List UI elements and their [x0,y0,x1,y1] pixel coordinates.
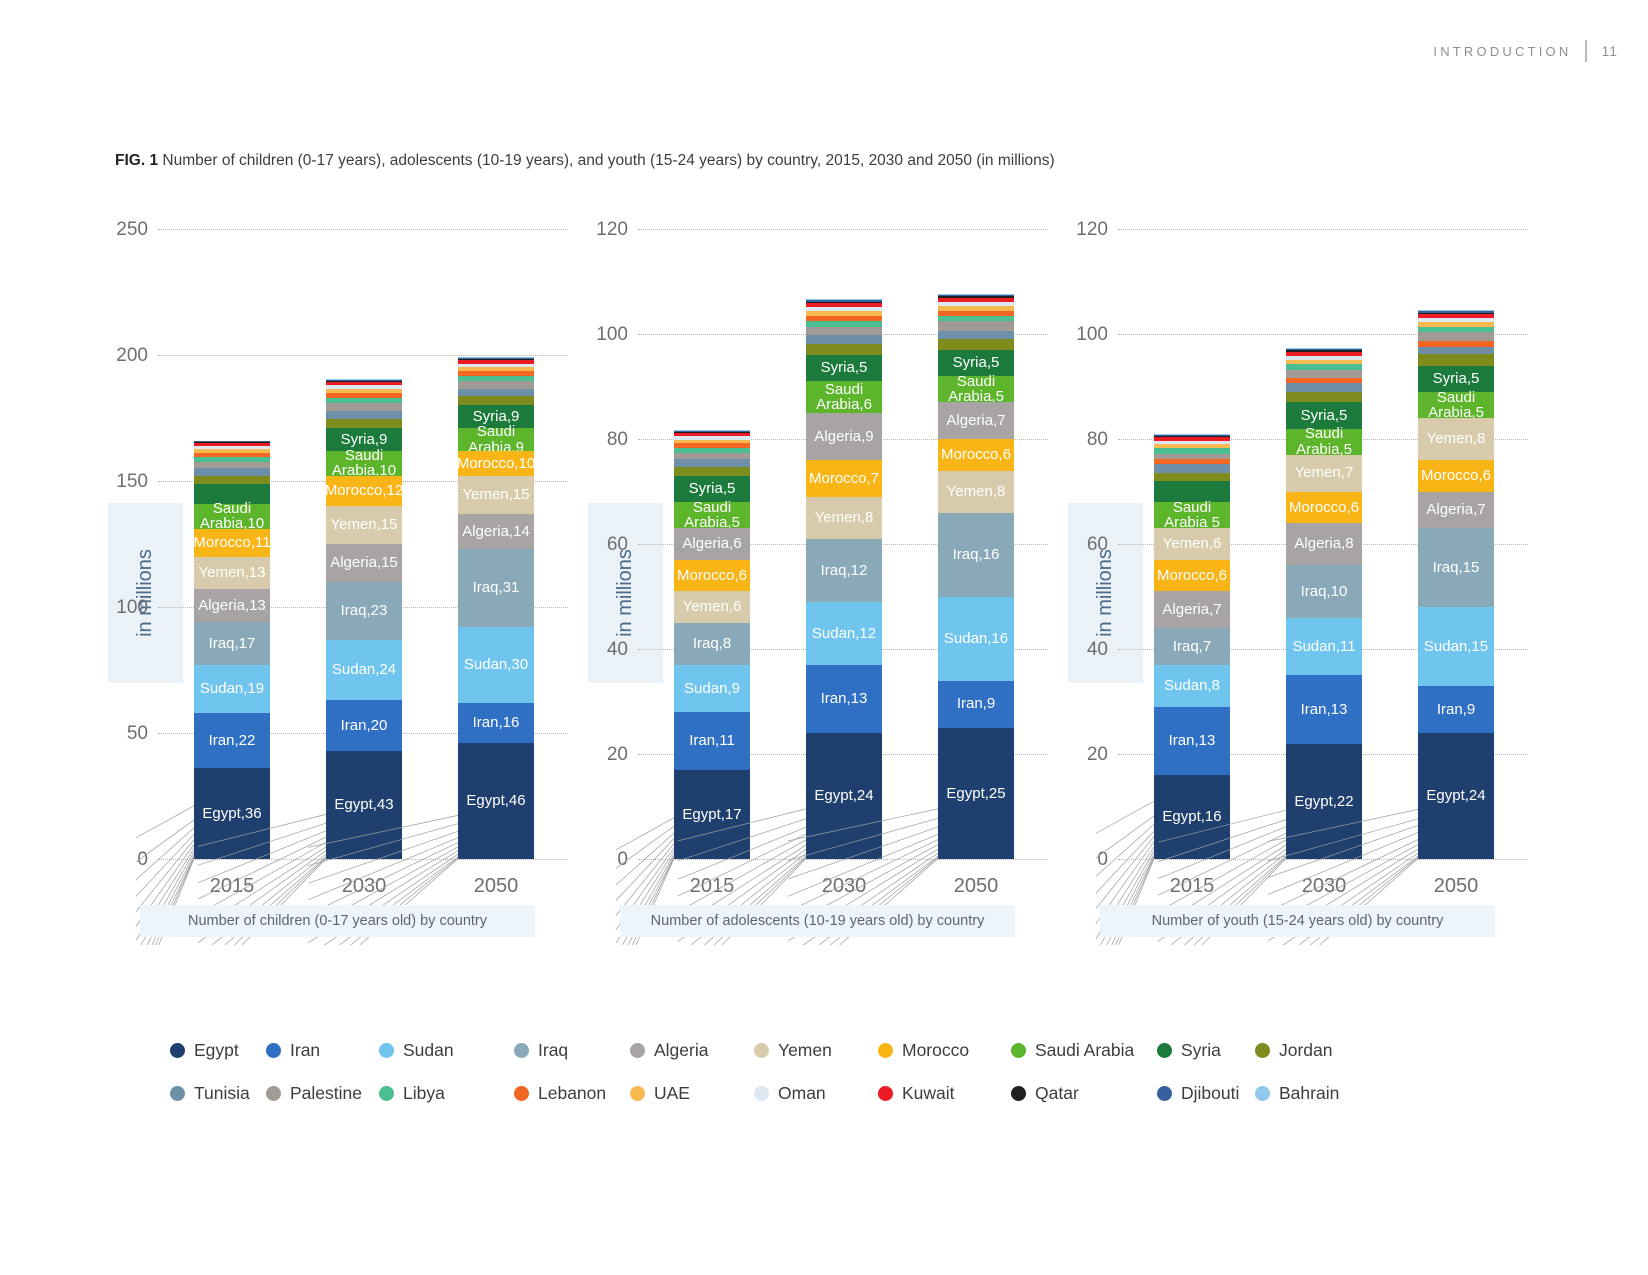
legend-item-algeria[interactable]: Algeria [630,1040,754,1061]
header-divider [1585,40,1587,62]
bar-segment-sudan[interactable]: Sudan,8 [1154,665,1230,707]
segment-label: Yemen,8 [1427,431,1486,446]
segment-label: Iran,13 [821,691,868,706]
bar-segment-morocco[interactable]: Morocco,11 [194,529,270,557]
legend-item-iraq[interactable]: Iraq [514,1040,630,1061]
bar-segment-egypt[interactable]: Egypt,24 [806,733,882,859]
x-axis-tick: 2050 [916,875,1036,898]
y-axis-tick: 0 [1097,849,1108,871]
legend-item-yemen[interactable]: Yemen [754,1040,878,1061]
bar-segment-saudi-arabia[interactable]: Saudi Arabia,5 [1418,392,1494,418]
segment-label: Sudan,12 [812,626,876,641]
bar-segment-syria[interactable] [1154,481,1230,502]
legend-label: Algeria [654,1040,708,1061]
x-axis-tick: 2015 [172,875,292,898]
legend-label: Kuwait [902,1083,955,1104]
bar-segment-algeria[interactable]: Algeria,9 [806,413,882,460]
bar-segment-iran[interactable]: Iran,16 [458,703,534,743]
y-axis-tick: 120 [596,219,628,241]
bar-segment-algeria[interactable]: Algeria,7 [1154,591,1230,628]
segment-label: Syria,5 [821,360,868,375]
segment-label: Sudan,16 [944,631,1008,646]
bar-segment-iraq[interactable]: Iraq,7 [1154,628,1230,665]
segment-label: Egypt,36 [202,806,261,821]
bar-segment-tunisia[interactable] [938,331,1014,339]
segment-label: Algeria,7 [946,413,1005,428]
segment-label: Morocco,6 [1289,500,1359,515]
segment-label: Yemen,7 [1295,465,1354,480]
legend-swatch [379,1043,394,1058]
bar-segment-iraq[interactable]: Iraq,10 [1286,565,1362,618]
legend-label: Oman [778,1083,826,1104]
bar-segment-iran[interactable]: Iran,22 [194,713,270,768]
bar-segment-jordan[interactable] [1286,392,1362,403]
bar-segment-syria[interactable]: Syria,9 [458,405,534,428]
bar-segment-egypt[interactable]: Egypt,16 [1154,775,1230,859]
figure-title: FIG. 1 Number of children (0-17 years), … [115,152,1055,170]
segment-label: Algeria,8 [1294,536,1353,551]
segment-label: Egypt,22 [1294,794,1353,809]
segment-label: Syria,9 [341,432,388,447]
legend-label: Palestine [290,1083,362,1104]
bar-segment-morocco[interactable]: Morocco,6 [938,439,1014,471]
y-axis-tick: 60 [607,534,628,556]
legend-label: Lebanon [538,1083,606,1104]
segment-label: Algeria,7 [1426,502,1485,517]
y-axis-tick: 120 [1076,219,1108,241]
bar-segment-tunisia[interactable] [326,411,402,419]
bar-segment-algeria[interactable]: Algeria,6 [674,528,750,560]
y-axis-tick: 80 [607,429,628,451]
legend-item-sudan[interactable]: Sudan [379,1040,514,1061]
plot-area: 020406080100120Syria,5Saudi Arabia,5Alge… [638,229,1048,859]
plot-area: 020406080100120Saudi Arabia 5Yemen,6Moro… [1118,229,1528,859]
stacked-bar-2015[interactable]: Syria,5Saudi Arabia,5Algeria,6Morocco,6Y… [674,430,750,859]
bar-segment-tunisia[interactable] [1286,383,1362,391]
legend-item-kuwait[interactable]: Kuwait [878,1083,1011,1104]
y-axis-tick: 200 [116,345,148,367]
bar-segment-syria[interactable]: Syria,9 [326,428,402,451]
bar-segment-sudan[interactable]: Sudan,12 [806,602,882,665]
bar-segment-jordan[interactable] [938,339,1014,350]
legend-label: Morocco [902,1040,969,1061]
segment-label: Egypt,46 [466,793,525,808]
bar-segment-yemen[interactable]: Yemen,6 [1154,528,1230,560]
bar-segment-tunisia[interactable] [674,459,750,467]
bar-segment-saudi-arabia[interactable]: Saudi Arabia,10 [326,451,402,476]
y-axis-tick: 60 [1087,534,1108,556]
legend-label: UAE [654,1083,690,1104]
segment-label: Syria,5 [953,355,1000,370]
bar-segment-palestine[interactable] [938,321,1014,330]
legend-item-libya[interactable]: Libya [379,1083,514,1104]
bar-segment-algeria[interactable]: Algeria,7 [938,402,1014,439]
legend-swatch [878,1043,893,1058]
segment-label: Morocco,12 [325,483,403,498]
segment-label: Iran,16 [473,715,520,730]
bar-segment-tunisia[interactable] [194,468,270,476]
segment-label: Iraq,7 [1173,639,1211,654]
panel-caption: Number of children (0-17 years old) by c… [140,905,535,937]
segment-label: Iran,13 [1169,733,1216,748]
stacked-bar-2050[interactable]: Syria,9Saudi Arabia,9Morocco,10Yemen,15A… [458,357,534,859]
legend-item-bahrain[interactable]: Bahrain [1255,1083,1365,1104]
y-axis-tick: 0 [137,849,148,871]
bar-segment-sudan[interactable]: Sudan,9 [674,665,750,712]
segment-label: Syria,5 [1301,408,1348,423]
legend-item-lebanon[interactable]: Lebanon [514,1083,630,1104]
y-axis-tick: 0 [617,849,628,871]
legend-label: Iraq [538,1040,568,1061]
bar-segment-syria[interactable]: Syria,5 [938,350,1014,376]
bar-segment-egypt[interactable]: Egypt,46 [458,743,534,859]
legend-item-oman[interactable]: Oman [754,1083,878,1104]
stacked-bar-2015[interactable]: Saudi Arabia 5Yemen,6Morocco,6Algeria,7I… [1154,434,1230,859]
legend-swatch [170,1086,185,1101]
stacked-bar-2015[interactable]: Saudi Arabia,10Morocco,11Yemen,13Algeria… [194,441,270,859]
segment-label: Morocco,6 [1157,568,1227,583]
legend-swatch [754,1043,769,1058]
bar-segment-morocco[interactable]: Morocco,6 [1418,460,1494,492]
panel-youth: in millions020406080100120Saudi Arabia 5… [1060,215,1530,945]
bar-segment-iran[interactable]: Iran,20 [326,700,402,750]
x-axis-tick: 2030 [784,875,904,898]
bar-segment-saudi-arabia[interactable]: Saudi Arabia,5 [938,376,1014,402]
stacked-bar-2050[interactable]: Syria,5Saudi Arabia,5Algeria,7Morocco,6Y… [938,294,1014,859]
x-axis-tick: 2030 [1264,875,1384,898]
segment-label: Algeria,15 [330,555,398,570]
segment-label: Algeria,7 [1162,602,1221,617]
segment-label: Yemen,13 [198,565,265,580]
segment-label: Sudan,24 [332,662,396,677]
bar-segment-saudi-arabia[interactable]: Saudi Arabia,5 [674,502,750,528]
bar-segment-jordan[interactable] [458,396,534,406]
segment-label: Iran,11 [689,733,735,748]
bar-segment-jordan[interactable] [806,344,882,355]
legend-row: TunisiaPalestineLibyaLebanonUAEOmanKuwai… [170,1083,1470,1104]
bar-segment-tunisia[interactable] [806,335,882,344]
segment-label: Sudan,15 [1424,639,1488,654]
segment-label: Iran,13 [1301,702,1348,717]
legend-item-uae[interactable]: UAE [630,1083,754,1104]
segment-label: Algeria,6 [682,536,741,551]
segment-label: Iraq,12 [821,563,868,578]
legend-label: Sudan [403,1040,454,1061]
segment-label: Egypt,25 [946,786,1005,801]
legend-swatch [1011,1043,1026,1058]
segment-label: Egypt,24 [1426,788,1485,803]
segment-label: Algeria,9 [814,429,873,444]
legend-label: Djibouti [1181,1083,1239,1104]
legend-label: Egypt [194,1040,239,1061]
segment-label: Sudan,8 [1164,678,1220,693]
bar-segment-syria[interactable]: Syria,5 [806,355,882,381]
segment-label: Morocco,7 [809,471,879,486]
x-axis-tick: 2050 [436,875,556,898]
bar-segment-algeria[interactable]: Algeria,8 [1286,523,1362,565]
bar-segment-yemen[interactable]: Yemen,8 [1418,418,1494,460]
segment-label: Yemen,15 [462,487,529,502]
legend-label: Iran [290,1040,320,1061]
bar-segment-syria[interactable] [194,484,270,504]
bar-segment-egypt[interactable]: Egypt,25 [938,728,1014,859]
segment-label: Algeria,13 [198,598,266,613]
segment-label: Saudi Arabia,10 [332,448,396,479]
bar-segment-iran[interactable]: Iran,11 [674,712,750,770]
y-axis-tick: 40 [1087,639,1108,661]
y-axis-tick: 50 [127,723,148,745]
bar-segment-sudan[interactable]: Sudan,30 [458,627,534,703]
y-axis-tick: 20 [607,744,628,766]
legend-label: Saudi Arabia [1035,1040,1134,1061]
segment-label: Morocco,6 [677,568,747,583]
bar-segment-yemen[interactable]: Yemen,6 [674,591,750,623]
bar-segment-palestine[interactable] [1286,370,1362,377]
bar-segment-sudan[interactable]: Sudan,24 [326,640,402,700]
legend-label: Libya [403,1083,445,1104]
panel-caption: Number of youth (15-24 years old) by cou… [1100,905,1495,937]
segment-label: Yemen,6 [1163,536,1222,551]
legend-item-palestine[interactable]: Palestine [266,1083,379,1104]
bar-segment-palestine[interactable] [806,327,882,335]
legend-swatch [1157,1043,1172,1058]
segment-label: Syria,9 [473,409,520,424]
legend-swatch [754,1086,769,1101]
bar-segment-morocco[interactable]: Morocco,6 [1286,492,1362,524]
bar-segment-sudan[interactable]: Sudan,19 [194,665,270,713]
bar-segment-egypt[interactable]: Egypt,17 [674,770,750,859]
bar-segment-sudan[interactable]: Sudan,15 [1418,607,1494,686]
legend-item-iran[interactable]: Iran [266,1040,379,1061]
segment-label: Saudi Arabia 5 [1164,500,1220,531]
bar-segment-tunisia[interactable] [1154,464,1230,472]
segment-label: Iran,20 [341,718,388,733]
bar-segment-iraq[interactable]: Iraq,16 [938,513,1014,597]
segment-label: Saudi Arabia,5 [948,374,1004,405]
segment-label: Saudi Arabia,5 [684,500,740,531]
bar-segment-algeria[interactable]: Algeria,13 [194,589,270,622]
bar-segment-iran[interactable]: Iran,9 [1418,686,1494,733]
bar-segment-algeria[interactable]: Algeria,15 [326,544,402,582]
segment-label: Syria,5 [1433,371,1480,386]
legend-swatch [514,1086,529,1101]
segment-label: Egypt,16 [1162,809,1221,824]
segment-label: Algeria,14 [462,524,530,539]
bar-segment-iran[interactable]: Iran,13 [1154,707,1230,775]
y-axis-tick: 20 [1087,744,1108,766]
page-number: 11 [1601,43,1618,59]
bar-segment-algeria[interactable]: Algeria,14 [458,514,534,549]
y-axis-tick: 40 [607,639,628,661]
legend-swatch [1157,1086,1172,1101]
stacked-bar-2030[interactable]: Syria,5Saudi Arabia,6Algeria,9Morocco,7Y… [806,299,882,859]
legend-swatch [379,1086,394,1101]
legend-swatch [170,1043,185,1058]
bar-segment-jordan[interactable] [326,419,402,429]
legend-swatch [630,1043,645,1058]
segment-label: Sudan,30 [464,657,528,672]
bar-segment-syria[interactable]: Syria,5 [1418,366,1494,392]
y-axis-tick: 150 [116,471,148,493]
bar-segment-iraq[interactable]: Iraq,17 [194,622,270,665]
segment-label: Iran,9 [1437,702,1475,717]
legend-item-saudi-arabia[interactable]: Saudi Arabia [1011,1040,1157,1061]
section-label: INTRODUCTION [1433,44,1571,59]
panel-children: in millions050100150200250Saudi Arabia,1… [100,215,570,945]
segment-label: Iraq,10 [1301,584,1348,599]
plot-area: 050100150200250Saudi Arabia,10Morocco,11… [158,229,568,859]
legend-label: Qatar [1035,1083,1079,1104]
segment-label: Morocco,6 [1421,468,1491,483]
bar-segment-saudi-arabia[interactable]: Saudi Arabia 5 [1154,502,1230,528]
chart-legend: EgyptIranSudanIraqAlgeriaYemenMoroccoSau… [170,1040,1470,1126]
bar-segment-jordan[interactable] [1418,354,1494,365]
segment-label: Sudan,19 [200,681,264,696]
bar-segment-morocco[interactable]: Morocco,10 [458,451,534,476]
x-axis-tick: 2015 [1132,875,1252,898]
bar-group: Saudi Arabia 5Yemen,6Morocco,6Algeria,7I… [1118,229,1528,859]
segment-label: Egypt,24 [814,788,873,803]
bar-segment-iraq[interactable]: Iraq,8 [674,623,750,665]
segment-label: Iran,22 [209,733,256,748]
segment-label: Iraq,15 [1433,560,1480,575]
legend-swatch [266,1043,281,1058]
segment-label: Iraq,31 [473,580,520,595]
segment-label: Saudi Arabia,6 [816,382,872,413]
y-axis-tick: 250 [116,219,148,241]
bar-segment-tunisia[interactable] [458,389,534,396]
legend-swatch [514,1043,529,1058]
segment-label: Iran,9 [957,696,995,711]
segment-label: Morocco,6 [941,447,1011,462]
figure-title-text: Number of children (0-17 years), adolesc… [162,152,1054,169]
legend-label: Bahrain [1279,1083,1339,1104]
segment-label: Sudan,9 [684,681,740,696]
bar-segment-jordan[interactable] [674,467,750,476]
segment-label: Saudi Arabia,5 [1428,390,1484,421]
legend-swatch [1255,1086,1270,1101]
bar-segment-iraq[interactable]: Iraq,15 [1418,528,1494,607]
legend-item-morocco[interactable]: Morocco [878,1040,1011,1061]
bar-segment-syria[interactable]: Syria,5 [674,476,750,502]
legend-item-tunisia[interactable]: Tunisia [170,1083,266,1104]
bar-segment-jordan[interactable] [1154,473,1230,481]
bar-segment-saudi-arabia[interactable]: Saudi Arabia,10 [194,504,270,529]
x-axis-line [1118,859,1528,860]
bar-segment-iraq[interactable]: Iraq,12 [806,539,882,602]
stacked-bar-2030[interactable]: Syria,5Saudi Arabia,5Yemen,7Morocco,6Alg… [1286,348,1362,859]
segment-label: Sudan,11 [1292,639,1355,654]
bar-segment-algeria[interactable]: Algeria,7 [1418,492,1494,529]
legend-swatch [1011,1086,1026,1101]
y-axis-tick: 100 [596,324,628,346]
bar-segment-jordan[interactable] [194,476,270,484]
bar-segment-yemen[interactable]: Yemen,8 [938,471,1014,513]
segment-label: Morocco,10 [457,456,535,471]
bar-segment-yemen[interactable]: Yemen,13 [194,557,270,590]
x-axis-line [638,859,1048,860]
legend-item-jordan[interactable]: Jordan [1255,1040,1365,1061]
bar-segment-palestine[interactable] [458,381,534,389]
figure-number: FIG. 1 [115,152,158,169]
bar-segment-yemen[interactable]: Yemen,7 [1286,455,1362,492]
x-axis-tick: 2015 [652,875,772,898]
bar-segment-morocco[interactable]: Morocco,7 [806,460,882,497]
y-axis-tick: 100 [1076,324,1108,346]
legend-label: Tunisia [194,1083,250,1104]
legend-item-djibouti[interactable]: Djibouti [1157,1083,1255,1104]
legend-item-syria[interactable]: Syria [1157,1040,1255,1061]
bar-segment-egypt[interactable]: Egypt,22 [1286,744,1362,860]
bar-segment-iran[interactable]: Iran,13 [1286,675,1362,743]
segment-label: Iraq,17 [209,636,256,651]
bar-segment-egypt[interactable]: Egypt,24 [1418,733,1494,859]
segment-label: Yemen,8 [815,510,874,525]
bar-segment-yemen[interactable]: Yemen,8 [806,497,882,539]
bar-segment-egypt[interactable]: Egypt,43 [326,751,402,859]
page-header: INTRODUCTION 11 [1433,40,1618,62]
bar-segment-iran[interactable]: Iran,9 [938,681,1014,728]
bar-segment-yemen[interactable]: Yemen,15 [458,476,534,514]
bar-segment-saudi-arabia[interactable]: Saudi Arabia,6 [806,381,882,413]
bar-segment-palestine[interactable] [326,403,402,410]
bar-segment-morocco[interactable]: Morocco,12 [326,476,402,506]
segment-label: Iraq,8 [693,636,731,651]
bar-segment-iraq[interactable]: Iraq,31 [458,549,534,627]
legend-swatch [878,1086,893,1101]
legend-label: Yemen [778,1040,832,1061]
panel-adolescents: in millions020406080100120Syria,5Saudi A… [580,215,1050,945]
bar-group: Syria,5Saudi Arabia,5Algeria,6Morocco,6Y… [638,229,1048,859]
bar-segment-morocco[interactable]: Morocco,6 [1154,560,1230,592]
segment-label: Egypt,17 [682,807,741,822]
segment-label: Yemen,15 [330,517,397,532]
segment-label: Yemen,8 [947,484,1006,499]
segment-label: Syria,5 [689,481,736,496]
bar-segment-egypt[interactable]: Egypt,36 [194,768,270,859]
x-axis-tick: 2030 [304,875,424,898]
legend-item-egypt[interactable]: Egypt [170,1040,266,1061]
bar-segment-sudan[interactable]: Sudan,16 [938,597,1014,681]
x-axis-tick: 2050 [1396,875,1516,898]
bar-segment-saudi-arabia[interactable]: Saudi Arabia,5 [1286,429,1362,455]
bar-segment-syria[interactable]: Syria,5 [1286,402,1362,428]
legend-item-qatar[interactable]: Qatar [1011,1083,1157,1104]
segment-label: Morocco,11 [193,535,270,550]
segment-label: Iraq,23 [341,603,388,618]
legend-label: Syria [1181,1040,1221,1061]
stacked-bar-2050[interactable]: Syria,5Saudi Arabia,5Yemen,8Morocco,6Alg… [1418,310,1494,859]
bar-segment-iran[interactable]: Iran,13 [806,665,882,733]
segment-label: Iraq,16 [953,547,1000,562]
y-axis-tick: 80 [1087,429,1108,451]
segment-label: Saudi Arabia,5 [1296,426,1352,457]
bar-segment-sudan[interactable]: Sudan,11 [1286,618,1362,676]
bar-segment-yemen[interactable]: Yemen,15 [326,506,402,544]
bar-segment-iraq[interactable]: Iraq,23 [326,582,402,640]
legend-swatch [630,1086,645,1101]
x-axis-line [158,859,568,860]
legend-swatch [1255,1043,1270,1058]
bar-segment-tunisia[interactable] [1418,347,1494,355]
bar-segment-saudi-arabia[interactable]: Saudi Arabia,9 [458,428,534,451]
legend-row: EgyptIranSudanIraqAlgeriaYemenMoroccoSau… [170,1040,1470,1061]
bar-segment-palestine[interactable] [1418,332,1494,341]
bar-segment-morocco[interactable]: Morocco,6 [674,560,750,592]
segment-label: Saudi Arabia,10 [200,501,264,532]
stacked-bar-2030[interactable]: Syria,9Saudi Arabia,10Morocco,12Yemen,15… [326,379,402,859]
chart-panels: in millions050100150200250Saudi Arabia,1… [0,215,1648,945]
